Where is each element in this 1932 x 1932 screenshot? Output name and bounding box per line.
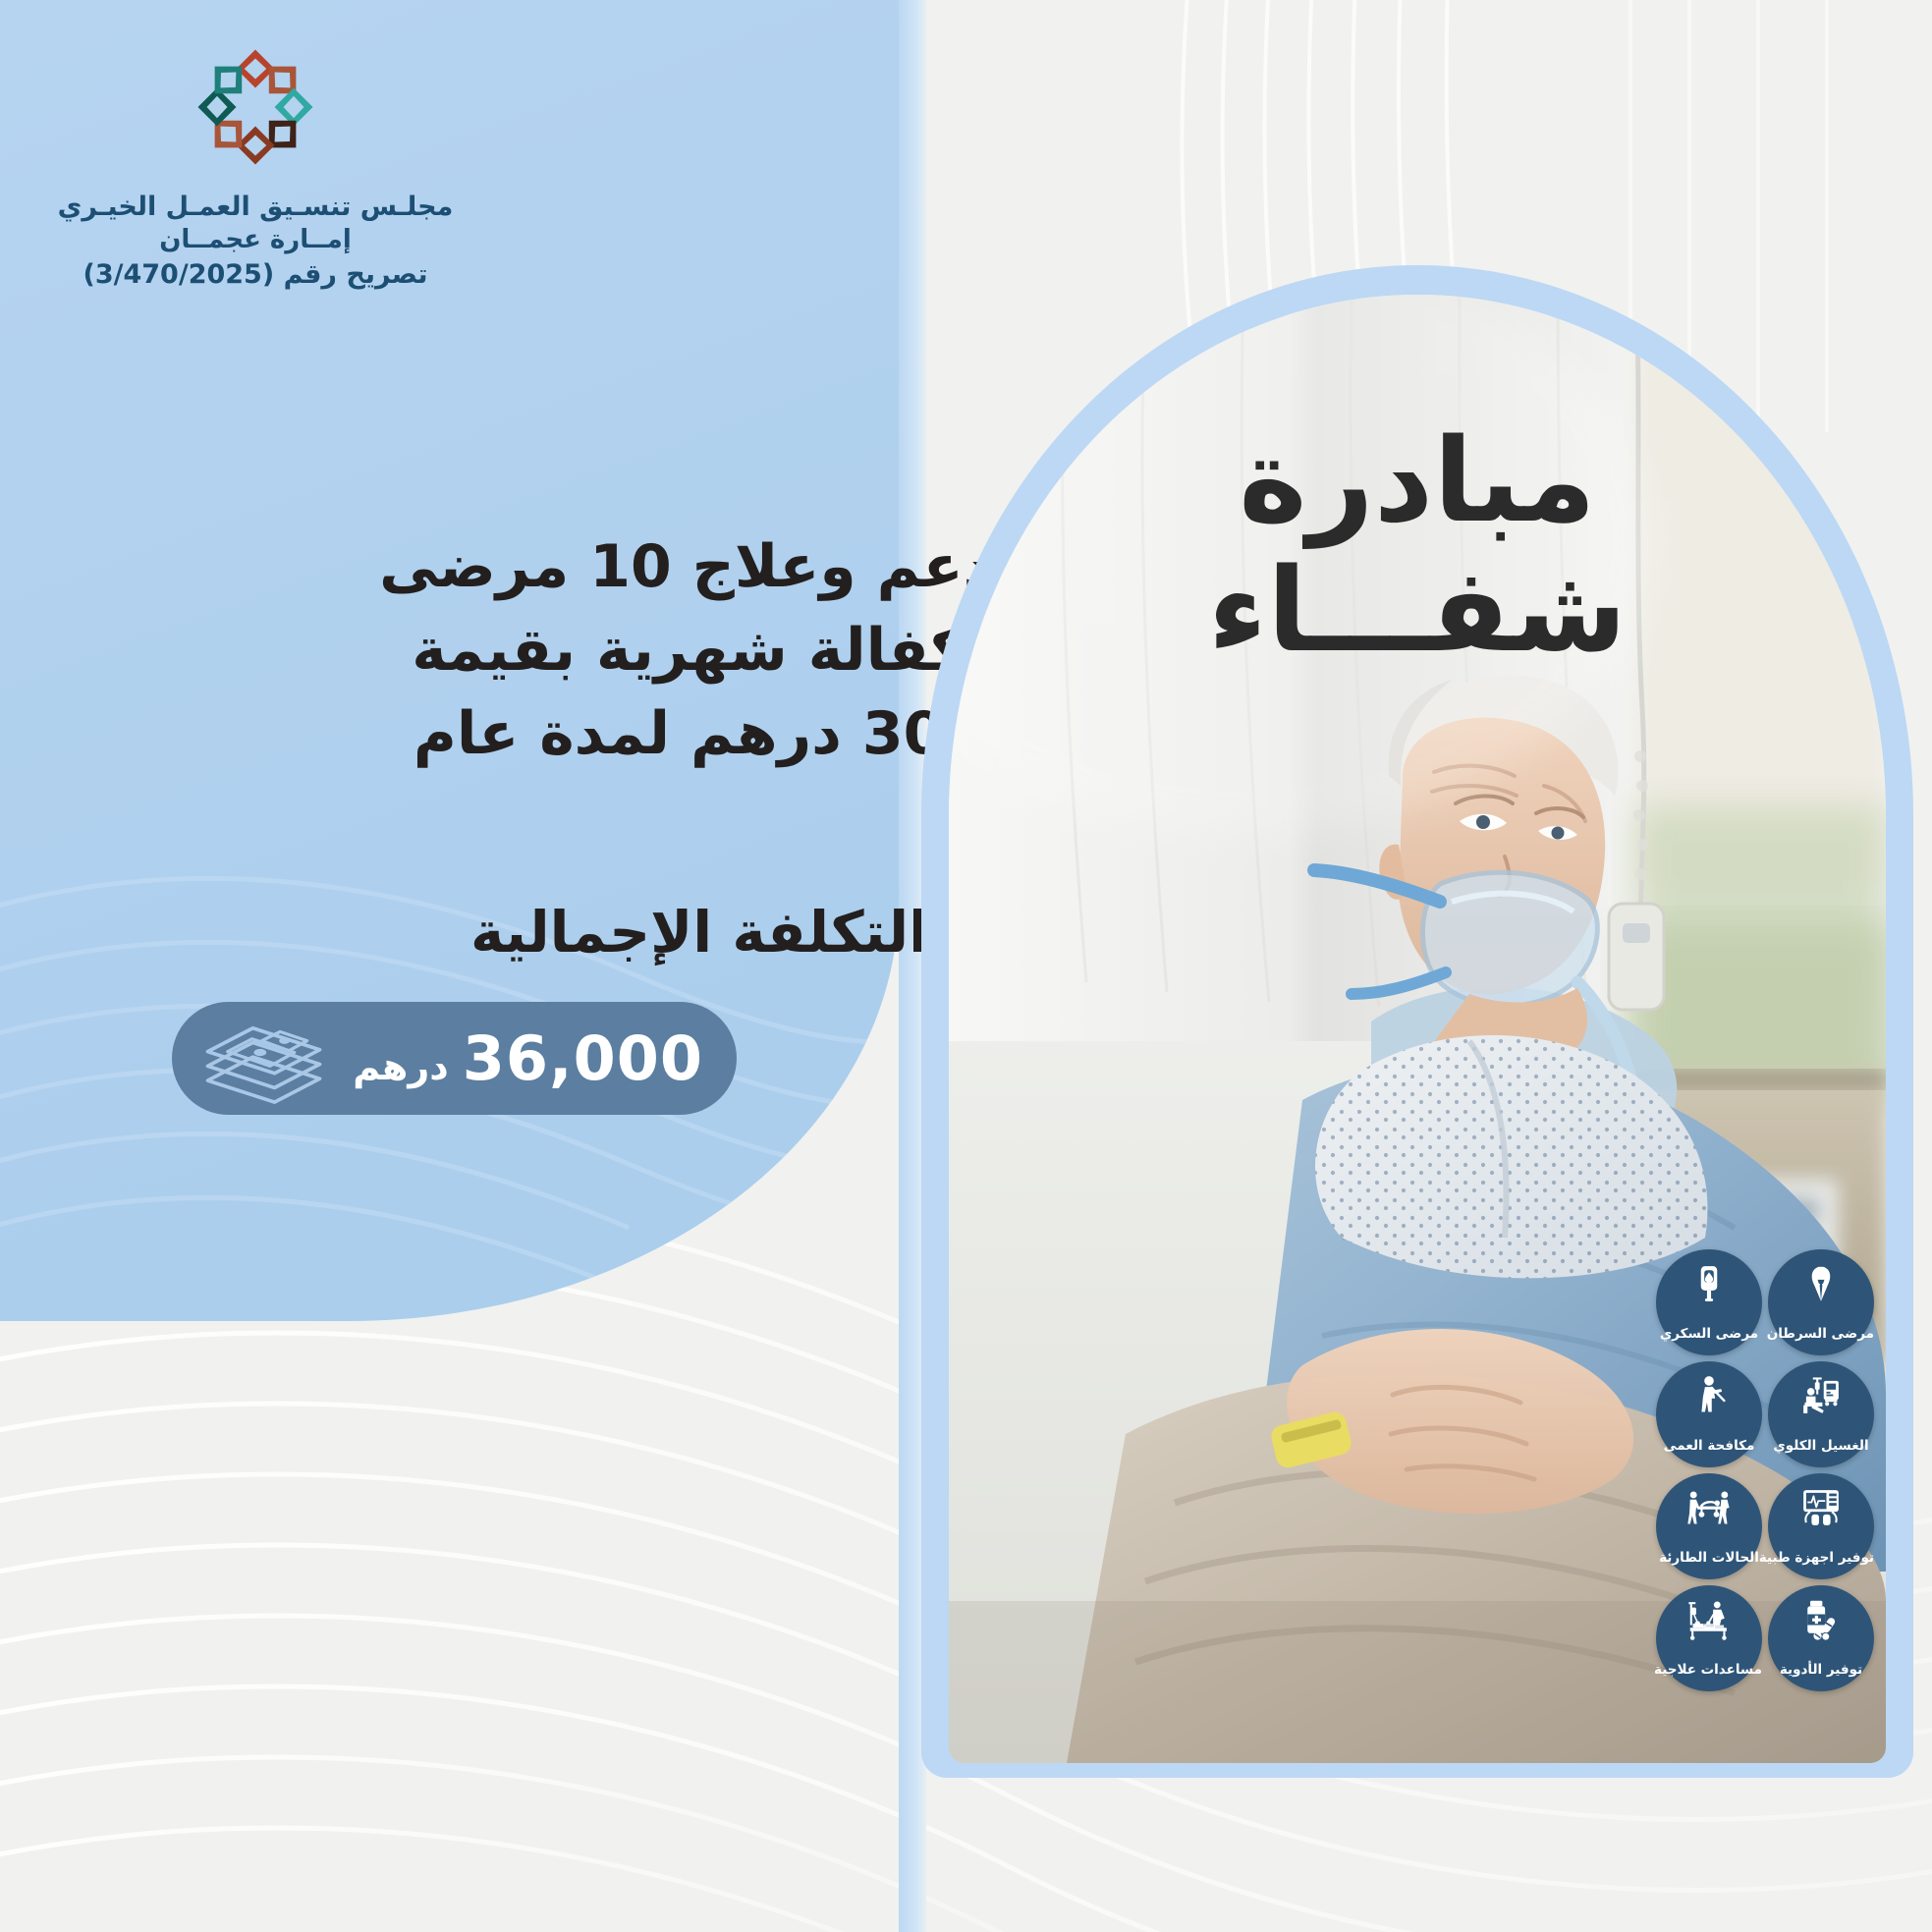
service-badge-label: توفير اجهزة طبية — [1768, 1550, 1874, 1566]
awareness-ribbon-icon — [1799, 1262, 1843, 1305]
service-badge-label: مساعدات علاجية — [1656, 1662, 1762, 1678]
dialysis-patient-icon — [1799, 1374, 1843, 1417]
service-badge-medicines[interactable]: توفير الأدوية — [1768, 1585, 1874, 1691]
service-badge-treatment-aid[interactable]: مساعدات علاجية — [1656, 1585, 1762, 1691]
medicine-bottle-pills-icon — [1799, 1598, 1843, 1641]
service-badge-medical-devices[interactable]: توفير اجهزة طبية — [1768, 1473, 1874, 1579]
service-badge-label: مرضى السرطان — [1768, 1326, 1874, 1342]
cost-amount-value: 36,000 — [463, 1022, 703, 1094]
headline-line-1: لدعم وعلاج 10 مرضى — [365, 525, 1033, 609]
service-badges-grid: مرضى السرطان مرضى السكري — [1550, 1249, 1874, 1691]
money-stack-icon — [197, 1014, 330, 1104]
brand-logo-block: مجلـس تنسـيق العمـل الخيـري إمــارة عجمـ… — [0, 33, 511, 292]
eight-point-rosette-logo — [182, 33, 329, 181]
service-badge-cancer[interactable]: مرضى السرطان — [1768, 1249, 1874, 1355]
patient-bed-treatment-icon — [1687, 1598, 1731, 1641]
service-badge-blindness[interactable]: مكافحة العمى — [1656, 1361, 1762, 1467]
service-badge-label: الغسيل الكلوي — [1768, 1438, 1874, 1454]
service-badge-label: الحالات الطارئة — [1656, 1550, 1762, 1566]
medical-monitor-icon — [1799, 1486, 1843, 1529]
org-name: مجلـس تنسـيق العمـل الخيـري — [0, 191, 511, 224]
service-badge-emergency[interactable]: الحالات الطارئة — [1656, 1473, 1762, 1579]
stretcher-emergency-icon — [1687, 1486, 1731, 1529]
license-number: تصريح رقم (3/470/2025) — [0, 257, 511, 292]
cost-amount-group: 36,000 درهم — [353, 1022, 703, 1094]
service-badge-label: مكافحة العمى — [1656, 1438, 1762, 1454]
total-cost-label: التكلفة الإجمالية — [248, 899, 1033, 967]
glucose-meter-icon — [1687, 1262, 1731, 1305]
service-badge-diabetes[interactable]: مرضى السكري — [1656, 1249, 1762, 1355]
service-badge-dialysis[interactable]: الغسيل الكلوي — [1768, 1361, 1874, 1467]
headline-block: لدعم وعلاج 10 مرضى بكفالة شهرية بقيمة 30… — [248, 525, 1033, 777]
blind-person-cane-icon — [1687, 1374, 1731, 1417]
service-badge-label: مرضى السكري — [1656, 1326, 1762, 1342]
org-emirate: إمــارة عجمــان — [0, 224, 511, 256]
total-cost-badge: 36,000 درهم — [172, 1002, 737, 1115]
cost-currency-label: درهم — [353, 1045, 449, 1088]
poster-canvas: مجلـس تنسـيق العمـل الخيـري إمــارة عجمـ… — [0, 0, 1932, 1932]
headline-line-2: بكفالة شهرية بقيمة — [365, 609, 1033, 692]
service-badge-label: توفير الأدوية — [1768, 1662, 1874, 1678]
